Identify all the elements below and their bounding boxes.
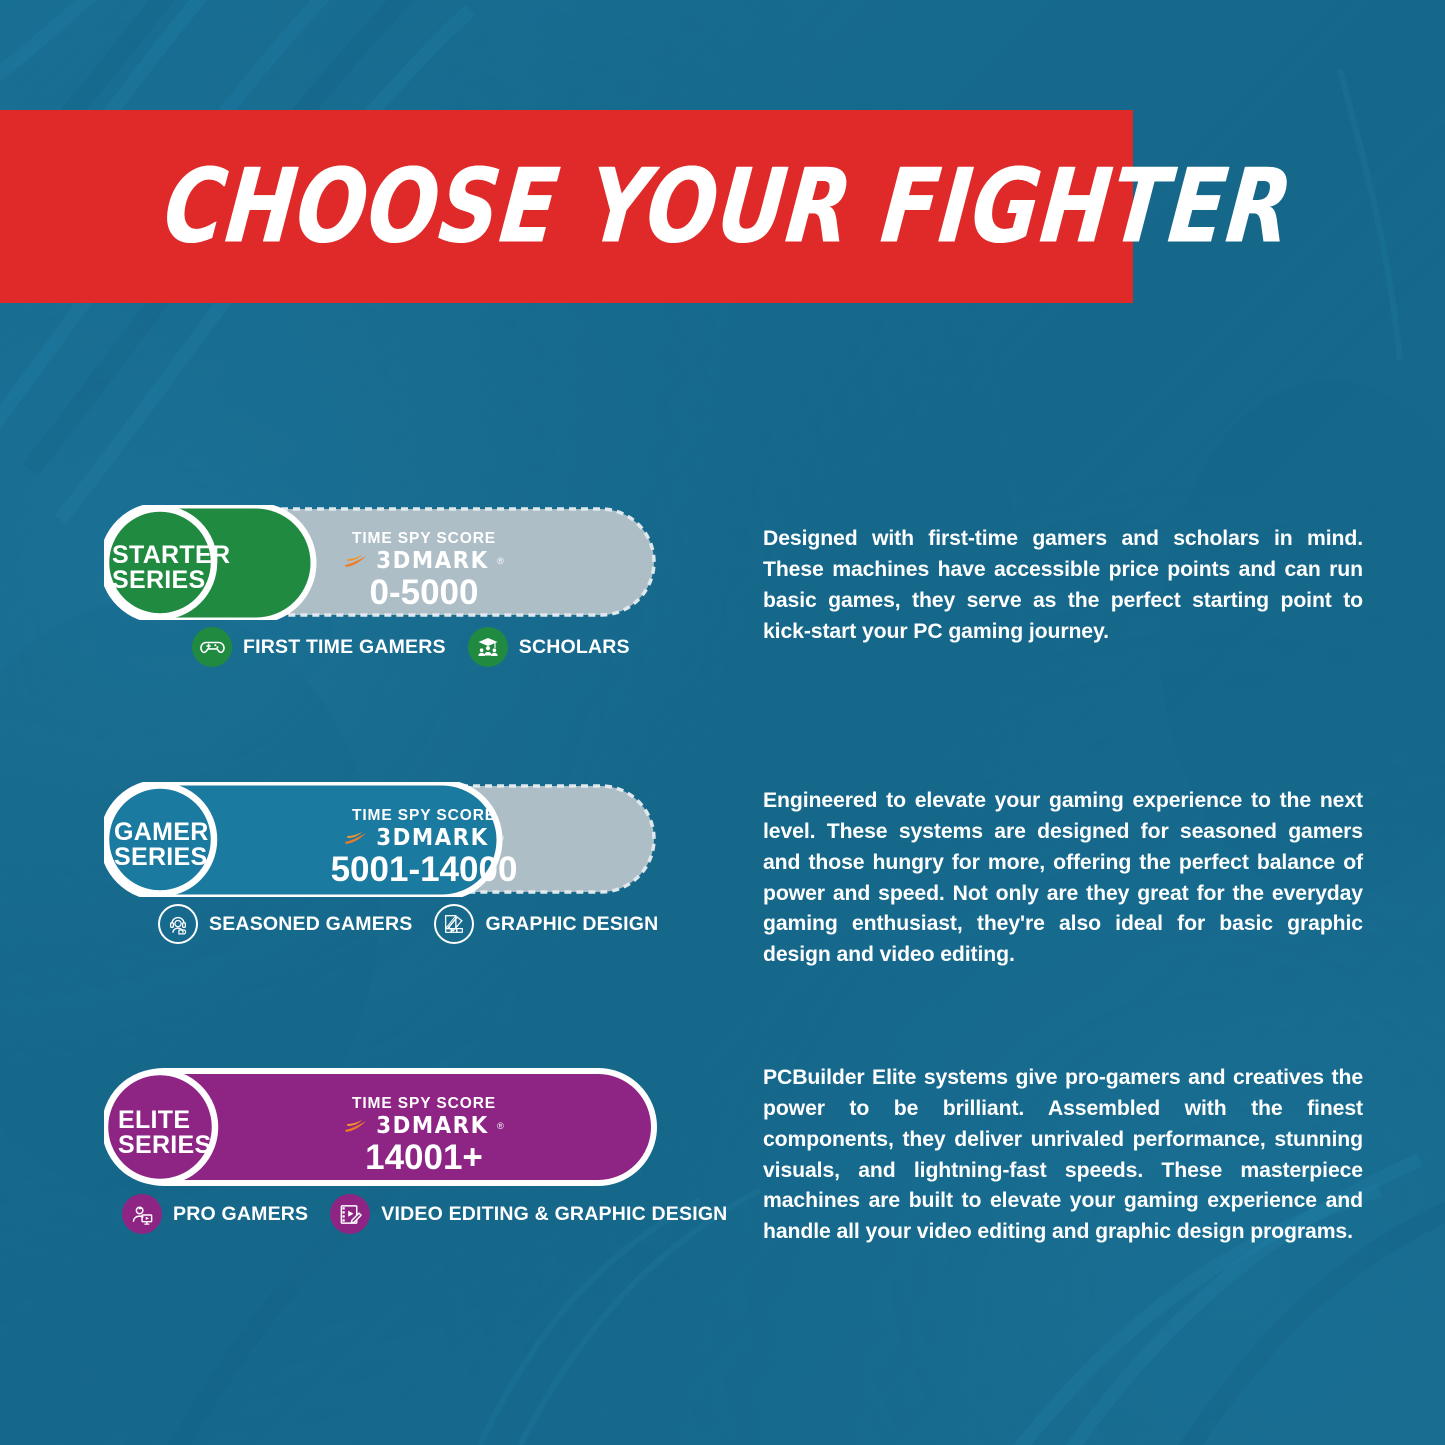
gamer-series-label: GAMER SERIES [114, 820, 214, 870]
tag-seasoned-gamers[interactable]: SEASONED GAMERS [158, 904, 412, 944]
starter-series-label: STARTER SERIES [112, 543, 212, 593]
tag-label: VIDEO EDITING & GRAPHIC DESIGN [381, 1203, 727, 1226]
elite-name-line1: ELITE [118, 1108, 218, 1133]
3dmark-arrow-icon [344, 830, 368, 846]
score-label: TIME SPY SCORE [304, 531, 544, 547]
header-banner: CHOOSE YOUR FIGHTER [0, 110, 1133, 303]
tag-video-editing-graphic-design[interactable]: VIDEO EDITING & GRAPHIC DESIGN [330, 1194, 727, 1234]
3dmark-logo: 3DMARK ® [304, 550, 544, 573]
tag-label: PRO GAMERS [173, 1203, 308, 1226]
3dmark-trademark: ® [497, 833, 504, 843]
starter-name-line1: STARTER [112, 543, 212, 568]
score-label: TIME SPY SCORE [304, 1096, 544, 1112]
tier-row-elite[interactable]: ELITE SERIES TIME SPY SCORE 3DMARK ® 140… [104, 1068, 664, 1248]
3dmark-trademark: ® [497, 556, 504, 566]
elite-name-line2: SERIES [118, 1133, 218, 1158]
tag-label: SEASONED GAMERS [209, 913, 412, 936]
tier-row-starter[interactable]: STARTER SERIES TIME SPY SCORE 3DMARK ® 0… [104, 505, 664, 685]
3dmark-wordmark: 3DMARK [376, 550, 488, 573]
tag-first-time-gamers[interactable]: FIRST TIME GAMERS [192, 627, 446, 667]
starter-score-range: 0-5000 [304, 575, 544, 612]
elite-description: PCBuilder Elite systems give pro-gamers … [763, 1063, 1363, 1248]
tag-scholars[interactable]: SCHOLARS [468, 627, 630, 667]
palette-swatch-icon [434, 904, 474, 944]
tag-label: SCHOLARS [519, 636, 630, 659]
tag-label: GRAPHIC DESIGN [485, 913, 658, 936]
3dmark-arrow-icon [344, 1118, 368, 1134]
3dmark-trademark: ® [497, 1121, 504, 1131]
gamer-description: Engineered to elevate your gaming experi… [763, 786, 1363, 971]
starter-description: Designed with first-time gamers and scho… [763, 524, 1363, 647]
gamer-score-range: 5001-14000 [304, 852, 544, 889]
3dmark-wordmark: 3DMARK [376, 1115, 488, 1138]
3dmark-arrow-icon [344, 553, 368, 569]
starter-name-line2: SERIES [112, 568, 212, 593]
tag-graphic-design[interactable]: GRAPHIC DESIGN [434, 904, 658, 944]
starter-score-block: TIME SPY SCORE 3DMARK ® 0-5000 [304, 531, 544, 611]
starter-tags: FIRST TIME GAMERS SCHOLARS [192, 627, 630, 667]
elite-tags: PRO GAMERS VIDEO EDITING & GRAPHIC DESIG… [122, 1194, 727, 1234]
tag-label: FIRST TIME GAMERS [243, 636, 446, 659]
3dmark-wordmark: 3DMARK [376, 827, 488, 850]
pro-gamer-monitor-icon [122, 1194, 162, 1234]
3dmark-logo: 3DMARK ® [304, 827, 544, 850]
tag-pro-gamers[interactable]: PRO GAMERS [122, 1194, 308, 1234]
elite-series-label: ELITE SERIES [118, 1108, 218, 1158]
gamer-name-line1: GAMER [114, 820, 214, 845]
score-label: TIME SPY SCORE [304, 808, 544, 824]
video-edit-icon [330, 1194, 370, 1234]
elite-score-range: 14001+ [304, 1140, 544, 1177]
headset-gamer-icon [158, 904, 198, 944]
graduation-group-icon [468, 627, 508, 667]
elite-score-block: TIME SPY SCORE 3DMARK ® 14001+ [304, 1096, 544, 1176]
gamer-score-block: TIME SPY SCORE 3DMARK ® 5001-14000 [304, 808, 544, 888]
gamer-tags: SEASONED GAMERS GRAPHIC DESIGN [158, 904, 658, 944]
3dmark-logo: 3DMARK ® [304, 1115, 544, 1138]
page-title: CHOOSE YOUR FIGHTER [160, 155, 1298, 257]
gamepad-icon [192, 627, 232, 667]
tier-row-gamer[interactable]: GAMER SERIES TIME SPY SCORE 3DMARK ® 500… [104, 782, 664, 962]
gamer-name-line2: SERIES [114, 845, 214, 870]
